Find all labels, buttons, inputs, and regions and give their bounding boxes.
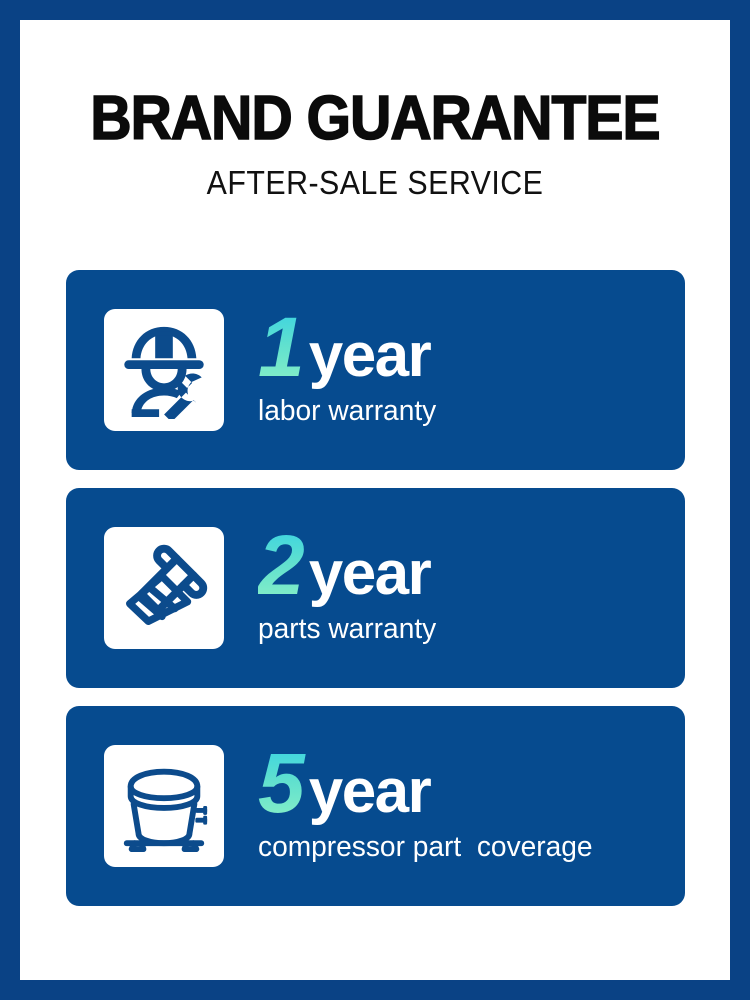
guarantee-unit: year xyxy=(309,325,431,387)
guarantee-unit: year xyxy=(309,761,431,823)
guarantee-term: 2 year xyxy=(258,526,430,606)
guarantee-card: 2 year parts warranty xyxy=(66,488,685,688)
guarantee-description: parts warranty xyxy=(258,614,436,646)
guarantee-unit: year xyxy=(309,543,431,605)
poster-inner-page: BRAND GUARANTEE AFTER-SALE SERVICE xyxy=(20,20,730,980)
compressor-icon xyxy=(104,745,224,867)
guarantee-description: labor warranty xyxy=(258,396,436,428)
poster-header: BRAND GUARANTEE AFTER-SALE SERVICE xyxy=(20,88,730,199)
guarantee-card-text: 2 year parts warranty xyxy=(224,526,685,650)
guarantee-card-text: 5 year compressor part coverage xyxy=(224,744,685,868)
guarantee-number: 1 xyxy=(258,308,309,388)
page-title: BRAND GUARANTEE xyxy=(48,88,701,150)
guarantee-card-list: 1 year labor warranty xyxy=(66,270,685,906)
page-subtitle: AFTER-SALE SERVICE xyxy=(48,166,701,199)
guarantee-card-text: 1 year labor warranty xyxy=(224,308,685,432)
guarantee-description: compressor part coverage xyxy=(258,832,593,864)
guarantee-number: 2 xyxy=(258,526,309,606)
tools-icon xyxy=(104,527,224,649)
worker-with-wrench-icon xyxy=(104,309,224,431)
guarantee-card: 1 year labor warranty xyxy=(66,270,685,470)
guarantee-card: 5 year compressor part coverage xyxy=(66,706,685,906)
guarantee-term: 5 year xyxy=(258,744,430,824)
guarantee-number: 5 xyxy=(258,744,309,824)
guarantee-term: 1 year xyxy=(258,308,430,388)
guarantee-poster: BRAND GUARANTEE AFTER-SALE SERVICE xyxy=(0,0,750,1000)
